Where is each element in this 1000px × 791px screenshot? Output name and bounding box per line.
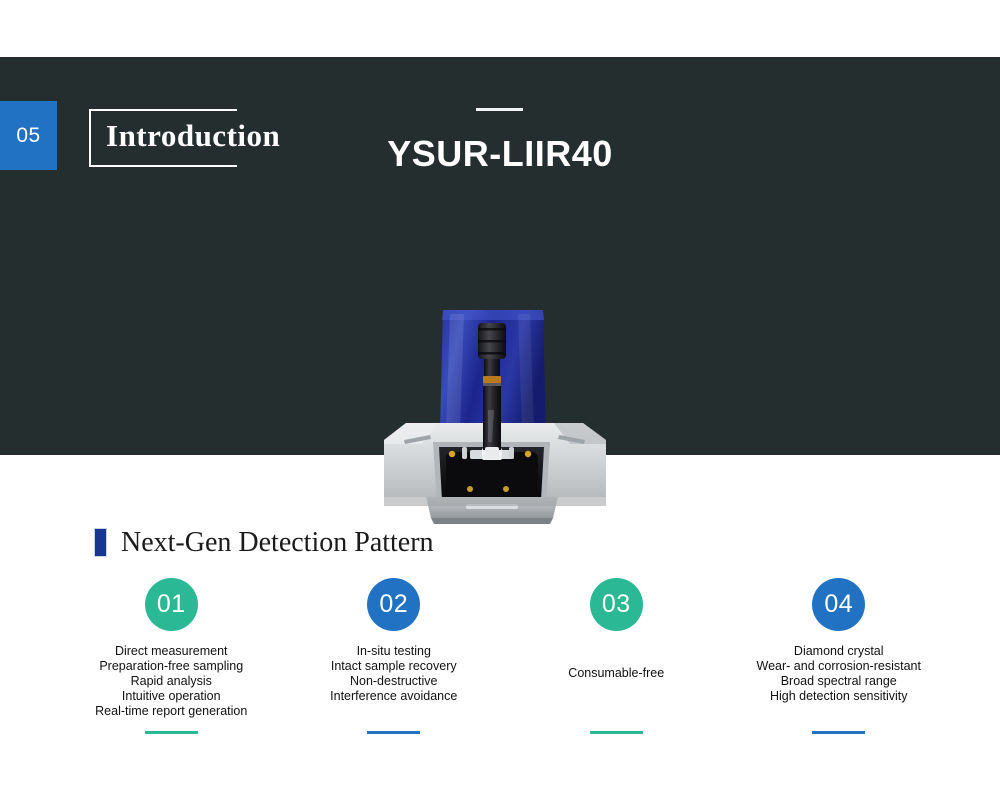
feature-number-badge: 03 bbox=[590, 578, 643, 631]
heading-accent-bar bbox=[94, 528, 107, 557]
instrument-base bbox=[384, 497, 606, 524]
feature-description: In-situ testing Intact sample recovery N… bbox=[330, 644, 457, 704]
feature-number-badge: 04 bbox=[812, 578, 865, 631]
feature-underline bbox=[812, 731, 865, 734]
feature-item-04: 04 Diamond crystal Wear- and corrosion-r… bbox=[728, 578, 951, 719]
feature-description: Direct measurement Preparation-free samp… bbox=[95, 644, 247, 719]
feature-item-01: 01 Direct measurement Preparation-free s… bbox=[60, 578, 283, 719]
ftir-spectrometer-illustration bbox=[378, 292, 653, 529]
feature-number-badge: 02 bbox=[367, 578, 420, 631]
pattern-heading-text: Next-Gen Detection Pattern bbox=[121, 529, 434, 557]
bracket-top-line bbox=[89, 109, 237, 111]
feature-item-03: 03 Consumable-free bbox=[505, 578, 728, 719]
feature-list: 01 Direct measurement Preparation-free s… bbox=[60, 578, 950, 719]
feature-description: Consumable-free bbox=[568, 666, 664, 681]
product-title: YSUR-LIIR40 bbox=[0, 133, 1000, 175]
pattern-heading: Next-Gen Detection Pattern bbox=[94, 528, 434, 557]
feature-underline bbox=[590, 731, 643, 734]
feature-description: Diamond crystal Wear- and corrosion-resi… bbox=[757, 644, 921, 704]
feature-number-badge: 01 bbox=[145, 578, 198, 631]
feature-underline bbox=[367, 731, 420, 734]
title-divider-rule bbox=[476, 108, 523, 111]
feature-underline bbox=[145, 731, 198, 734]
feature-item-02: 02 In-situ testing Intact sample recover… bbox=[283, 578, 506, 719]
